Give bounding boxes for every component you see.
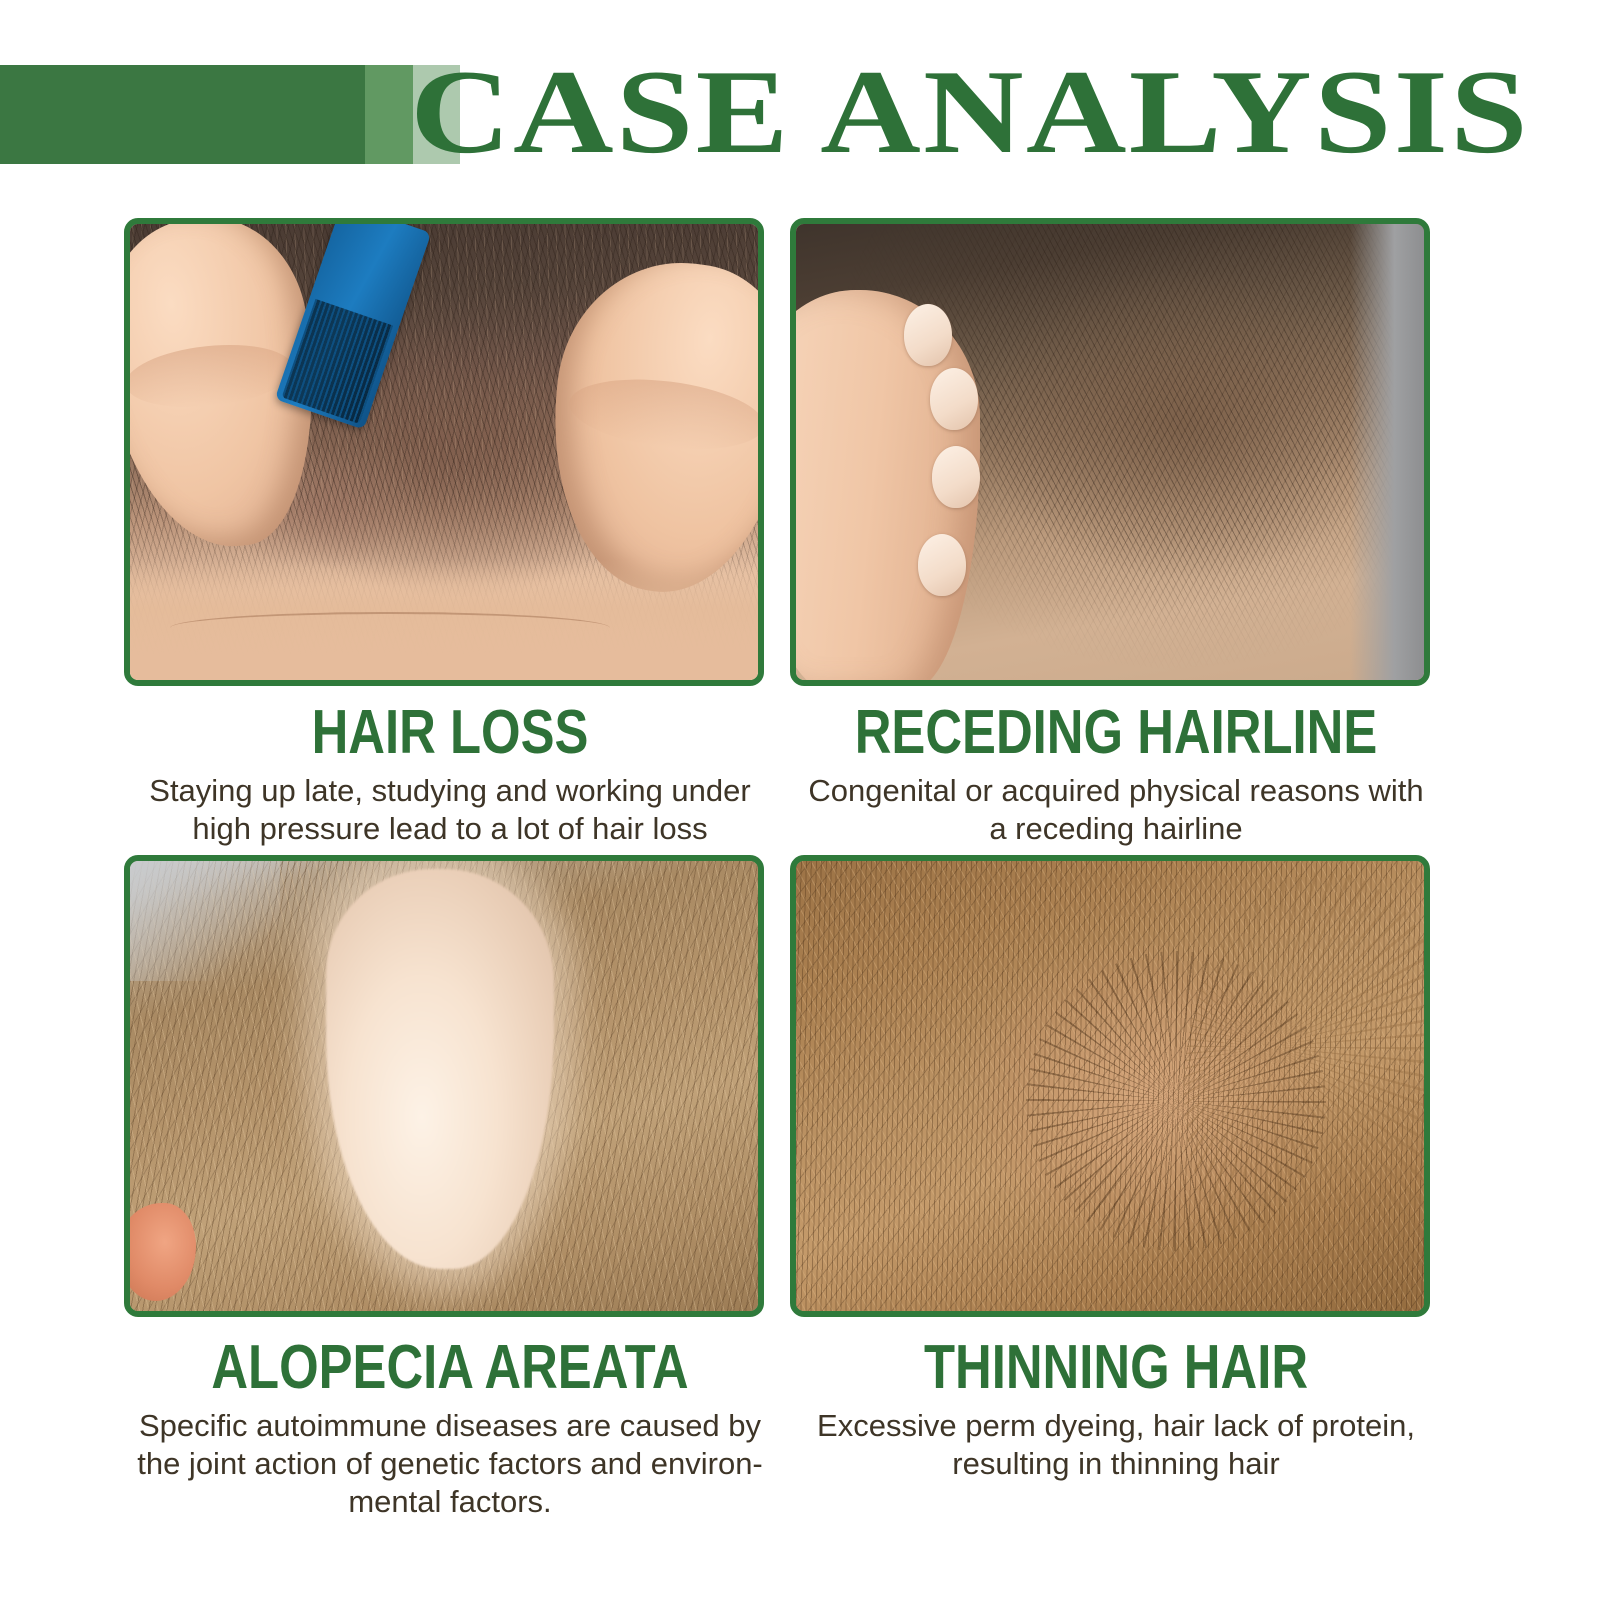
- card-description-alopecia-areata: Specific autoimmune diseases are caused …: [124, 1407, 776, 1521]
- page-title: CASE ANALYSIS: [410, 52, 1524, 172]
- case-card-grid: HAIR LOSS Staying up late, studying and …: [0, 200, 1600, 1600]
- photo-receding-hairline: [796, 224, 1424, 680]
- photo-thinning-hair: [796, 861, 1424, 1311]
- fingernail-shape: [930, 368, 978, 430]
- card-heading-alopecia-areata: ALOPECIA AREATA: [183, 1335, 718, 1401]
- fingernail-shape: [904, 304, 952, 366]
- card-description-thinning-hair: Excessive perm dyeing, hair lack of prot…: [790, 1407, 1442, 1483]
- header-accent-bar: [0, 65, 460, 164]
- photo-hair-loss: [130, 224, 758, 680]
- photo-frame-alopecia-areata: [124, 855, 764, 1317]
- case-card-receding-hairline: RECEDING HAIRLINE Congenital or acquired…: [790, 218, 1442, 848]
- card-heading-thinning-hair: THINNING HAIR: [849, 1335, 1384, 1401]
- page-header: CASE ANALYSIS: [0, 0, 1600, 200]
- photo-frame-thinning-hair: [790, 855, 1430, 1317]
- card-heading-receding-hairline: RECEDING HAIRLINE: [849, 700, 1384, 766]
- fingernail-shape: [932, 446, 980, 508]
- hand-shape: [790, 290, 980, 686]
- case-card-thinning-hair: THINNING HAIR Excessive perm dyeing, hai…: [790, 855, 1442, 1483]
- accent-bar-segment-dark: [0, 65, 365, 164]
- case-card-alopecia-areata: ALOPECIA AREATA Specific autoimmune dise…: [124, 855, 776, 1521]
- card-description-receding-hairline: Congenital or acquired physical reasons …: [790, 772, 1442, 848]
- bald-patch-shape: [326, 869, 554, 1269]
- right-hand-shape: [534, 249, 764, 605]
- photo-alopecia-areata: [130, 861, 758, 1311]
- fingernail-shape: [918, 534, 966, 596]
- card-heading-hair-loss: HAIR LOSS: [183, 700, 718, 766]
- background-edge-shape: [1350, 224, 1424, 680]
- case-card-hair-loss: HAIR LOSS Staying up late, studying and …: [124, 218, 776, 848]
- ear-shape: [124, 1203, 196, 1301]
- accent-bar-segment-mid: [365, 65, 413, 164]
- card-description-hair-loss: Staying up late, studying and working un…: [124, 772, 776, 848]
- forehead-shape: [130, 560, 758, 680]
- crown-swirl-shape: [1026, 951, 1326, 1251]
- photo-frame-hair-loss: [124, 218, 764, 686]
- background-corner-shape: [130, 861, 280, 981]
- photo-frame-receding-hairline: [790, 218, 1430, 686]
